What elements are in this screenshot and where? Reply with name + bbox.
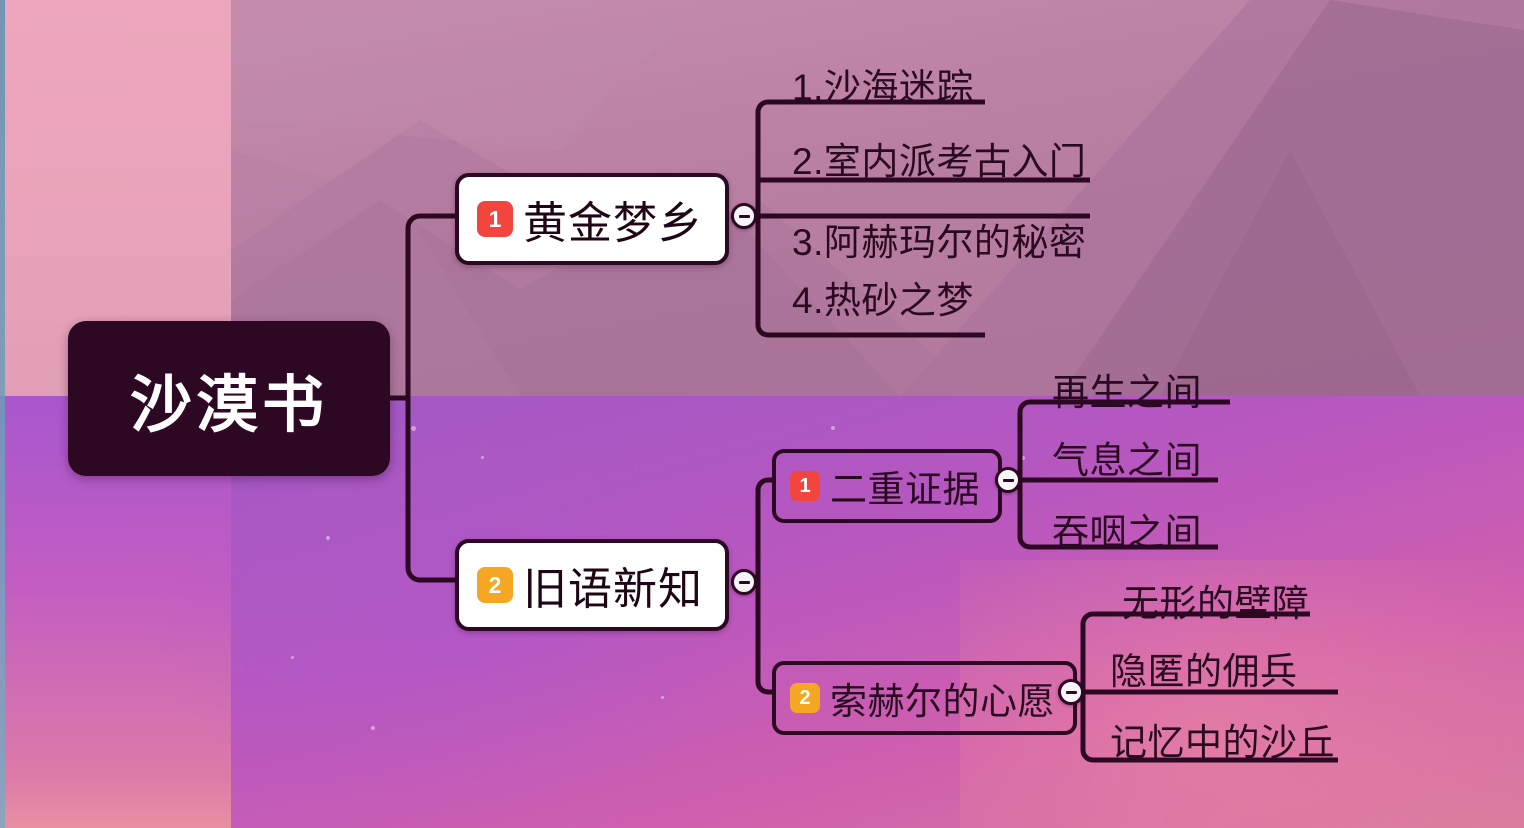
root-node[interactable]: 沙漠书	[68, 321, 390, 476]
branch-2-badge: 2	[477, 567, 513, 603]
sub-2-badge: 2	[790, 683, 820, 713]
branch-1-collapse-toggle[interactable]	[731, 203, 757, 229]
leaf-sub1-3[interactable]: 吞咽之间	[1052, 502, 1202, 556]
branch-2-collapse-toggle[interactable]	[731, 569, 757, 595]
minus-icon	[1066, 691, 1077, 694]
leaf-sub1-1[interactable]: 再生之间	[1052, 362, 1202, 416]
leaf-branch1-3[interactable]: 3.阿赫玛尔的秘密	[792, 212, 1086, 266]
root-node-label: 沙漠书	[130, 354, 328, 444]
sub-1-label: 二重证据	[830, 459, 980, 513]
sub-1-badge: 1	[790, 471, 820, 501]
mindmap-canvas[interactable]: 沙漠书 1 黄金梦乡 1.沙海迷踪 2.室内派考古入门 3.阿赫玛尔的秘密 4.…	[0, 0, 1524, 828]
leaf-branch1-1[interactable]: 1.沙海迷踪	[792, 57, 974, 111]
branch-node-2[interactable]: 2 旧语新知	[455, 539, 729, 631]
leaf-sub2-1[interactable]: 无形的壁障	[1122, 573, 1310, 627]
branch-2-label: 旧语新知	[523, 553, 703, 617]
sub-node-1[interactable]: 1 二重证据	[772, 449, 1002, 523]
window-left-edge-stripe	[0, 0, 5, 828]
sub-node-2[interactable]: 2 索赫尔的心愿	[772, 661, 1077, 735]
leaf-sub2-2[interactable]: 隐匿的佣兵	[1110, 641, 1298, 695]
minus-icon	[1003, 479, 1014, 482]
sub-1-collapse-toggle[interactable]	[995, 467, 1021, 493]
branch-node-1[interactable]: 1 黄金梦乡	[455, 173, 729, 265]
minus-icon	[739, 581, 750, 584]
leaf-sub1-2[interactable]: 气息之间	[1052, 430, 1202, 484]
sub-2-label: 索赫尔的心愿	[830, 671, 1055, 725]
leaf-sub2-3[interactable]: 记忆中的沙丘	[1110, 712, 1335, 766]
sub-2-collapse-toggle[interactable]	[1058, 679, 1084, 705]
leaf-branch1-4[interactable]: 4.热砂之梦	[792, 270, 974, 324]
branch-1-badge: 1	[477, 201, 513, 237]
leaf-branch1-2[interactable]: 2.室内派考古入门	[792, 131, 1086, 185]
branch-1-label: 黄金梦乡	[523, 187, 703, 251]
minus-icon	[739, 215, 750, 218]
